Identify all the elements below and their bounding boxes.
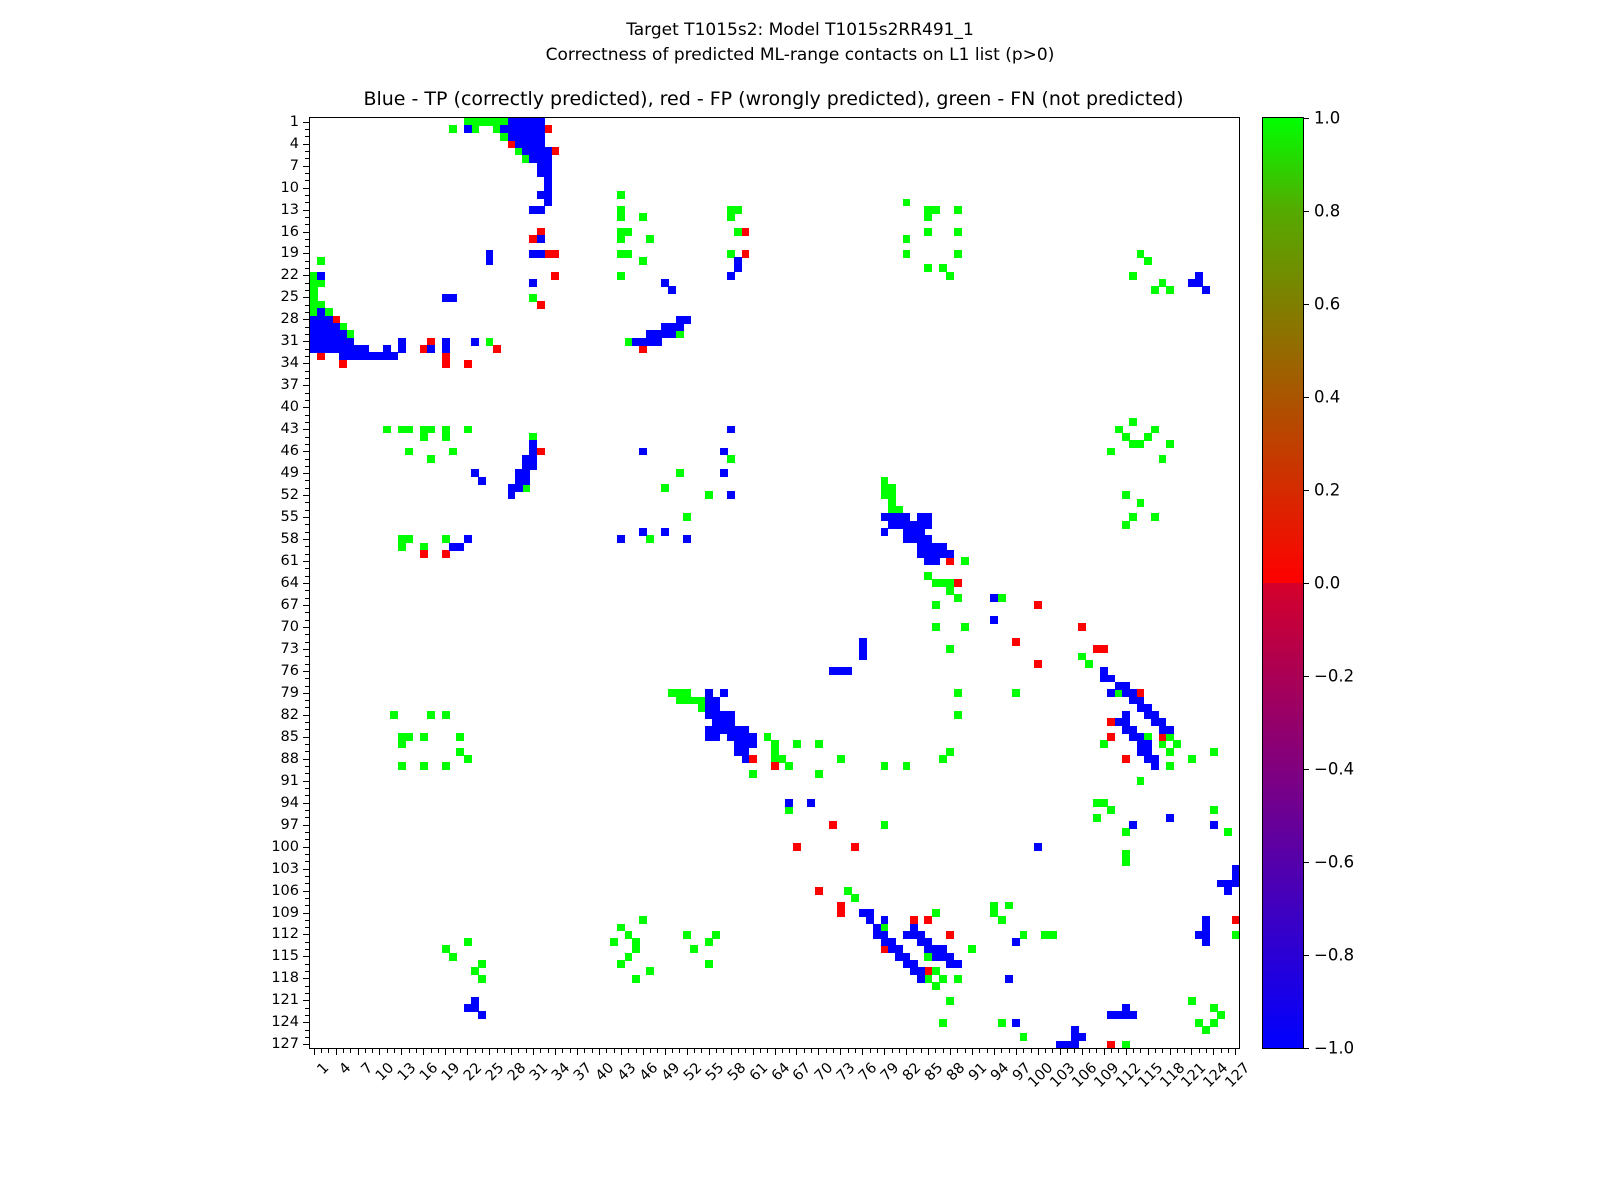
x-tick-mark [767, 1048, 768, 1053]
x-tick-mark [1067, 1048, 1068, 1053]
y-tick-mark [305, 393, 310, 394]
y-tick-mark [303, 297, 310, 298]
y-tick-mark [305, 502, 310, 503]
contact-cell-fn [449, 953, 457, 961]
y-tick-mark [305, 678, 310, 679]
contact-cell-tp [668, 286, 676, 294]
colorbar-tick-label: −0.4 [1314, 760, 1354, 779]
contact-cell-tp [537, 191, 545, 199]
contact-cell-fp [1159, 733, 1167, 741]
y-tick-mark [305, 327, 310, 328]
contact-cell-fn [1005, 902, 1013, 910]
contact-cell-fn [1144, 433, 1152, 441]
y-tick-mark [303, 253, 310, 254]
contact-cell-tp [544, 184, 552, 192]
contact-cell-tp [529, 279, 537, 287]
contact-cell-fp [1107, 733, 1115, 741]
y-tick-mark [305, 1008, 310, 1009]
contact-cell-fp [551, 147, 559, 155]
contact-cell-tp [464, 535, 472, 543]
x-tick-mark [1140, 1048, 1141, 1053]
y-tick-mark [305, 415, 310, 416]
y-tick-label: 13 [281, 202, 299, 218]
contact-cell-tp [1202, 938, 1210, 946]
x-tick-mark [913, 1048, 914, 1053]
contact-cell-tp [529, 462, 537, 470]
colorbar-tick-mark [1303, 862, 1309, 863]
x-tick-mark [533, 1048, 534, 1055]
contact-cell-tp [1129, 1011, 1137, 1019]
contact-cell-fn [1151, 286, 1159, 294]
y-tick-mark [305, 920, 310, 921]
y-tick-mark [305, 312, 310, 313]
colorbar-tick-mark [1303, 583, 1309, 584]
x-tick-mark [1177, 1048, 1178, 1053]
contact-cell-fn [690, 945, 698, 953]
contact-cell-tp [727, 426, 735, 434]
contact-cell-tp [829, 667, 837, 675]
contact-cell-fp [1232, 916, 1239, 924]
contact-cell-fn [420, 733, 428, 741]
x-tick-mark [855, 1048, 856, 1053]
y-tick-mark [303, 1022, 310, 1023]
contact-cell-fn [1166, 440, 1174, 448]
y-tick-mark [303, 517, 310, 518]
contact-cell-fn [1020, 1033, 1028, 1041]
contact-cell-fp [339, 360, 347, 368]
contact-cell-fn [449, 125, 457, 133]
y-tick-mark [305, 459, 310, 460]
contact-cell-fp [829, 821, 837, 829]
contact-cell-tp [946, 550, 954, 558]
contact-cell-fn [398, 762, 406, 770]
colorbar-tick-label: 0.4 [1314, 388, 1340, 407]
contact-cell-fn [954, 689, 962, 697]
contact-map-axes[interactable]: 1471013161922252831343740434649525558616… [309, 117, 1240, 1049]
contact-cell-fn [932, 982, 940, 990]
contact-cell-fp [537, 448, 545, 456]
y-tick-mark [305, 546, 310, 547]
contact-cell-tp [661, 528, 669, 536]
y-tick-label: 103 [271, 861, 299, 877]
y-tick-mark [305, 700, 310, 701]
contact-cell-fp [954, 579, 962, 587]
x-tick-mark [826, 1048, 827, 1053]
x-tick-mark [1038, 1048, 1039, 1055]
contact-cell-fn [1217, 1011, 1225, 1019]
contact-cell-fn [661, 484, 669, 492]
contact-cell-tp [639, 528, 647, 536]
contact-cell-fn [625, 953, 633, 961]
contact-cell-tp [881, 916, 889, 924]
x-tick-mark [789, 1048, 790, 1053]
y-tick-label: 19 [281, 245, 299, 261]
x-tick-mark [343, 1048, 344, 1053]
y-tick-mark [305, 795, 310, 796]
contact-cell-fn [785, 806, 793, 814]
x-tick-mark [1118, 1048, 1119, 1053]
x-tick-mark [877, 1048, 878, 1053]
x-tick-mark [1045, 1048, 1046, 1053]
contact-cell-fn [1122, 1041, 1130, 1048]
y-tick-mark [305, 744, 310, 745]
contact-cell-fp [420, 550, 428, 558]
y-tick-mark [305, 488, 310, 489]
x-tick-mark [906, 1048, 907, 1055]
x-tick-mark [1170, 1048, 1171, 1055]
colorbar-tick-label: −0.6 [1314, 853, 1354, 872]
contact-cell-fn [924, 213, 932, 221]
x-tick-label: 52 [681, 1060, 705, 1084]
contact-cell-fn [903, 235, 911, 243]
contact-cell-fn [449, 448, 457, 456]
y-tick-mark [305, 707, 310, 708]
x-tick-label: 7 [358, 1060, 376, 1078]
contact-cell-fn [1173, 740, 1181, 748]
y-tick-label: 25 [281, 289, 299, 305]
contact-cell-tp [1107, 689, 1115, 697]
colorbar-tick-label: 0.2 [1314, 481, 1340, 500]
x-tick-mark [438, 1048, 439, 1053]
contact-cell-tp [859, 653, 867, 661]
y-tick-label: 88 [281, 751, 299, 767]
y-tick-mark [305, 158, 310, 159]
y-tick-mark [305, 576, 310, 577]
y-tick-label: 91 [281, 773, 299, 789]
x-tick-mark [467, 1048, 468, 1055]
colorbar[interactable]: −1.0−0.8−0.6−0.4−0.20.00.20.40.60.81.0 [1262, 117, 1304, 1049]
y-tick-mark [305, 598, 310, 599]
contact-cell-fn [1151, 513, 1159, 521]
y-tick-mark [305, 861, 310, 862]
contact-cell-fn [683, 931, 691, 939]
x-tick-mark [738, 1048, 739, 1053]
contact-cell-fn [1166, 748, 1174, 756]
y-tick-mark [305, 151, 310, 152]
x-tick-label: 46 [637, 1060, 661, 1084]
contact-cell-fn [617, 960, 625, 968]
y-tick-mark [303, 561, 310, 562]
y-tick-mark [303, 1044, 310, 1045]
contact-cell-fn [646, 235, 654, 243]
y-tick-label: 43 [281, 421, 299, 437]
contact-cell-fn [522, 484, 530, 492]
contact-cell-fn [317, 279, 325, 287]
x-tick-mark [584, 1048, 585, 1053]
contact-cell-fp [1107, 1041, 1115, 1048]
contact-cell-fn [676, 330, 684, 338]
contact-cell-tp [668, 330, 676, 338]
y-tick-mark [303, 649, 310, 650]
contact-cell-fn [1093, 814, 1101, 822]
x-tick-mark [321, 1048, 322, 1053]
x-tick-mark [672, 1048, 673, 1053]
contact-cell-fn [383, 426, 391, 434]
y-tick-mark [303, 232, 310, 233]
y-tick-mark [303, 429, 310, 430]
x-tick-label: 58 [725, 1060, 749, 1084]
contact-cell-tp [486, 257, 494, 265]
y-tick-mark [303, 451, 310, 452]
y-tick-mark [305, 590, 310, 591]
contact-cell-tp [807, 799, 815, 807]
contact-cell-fn [1144, 257, 1152, 265]
x-tick-mark [460, 1048, 461, 1053]
x-tick-mark [694, 1048, 695, 1053]
y-tick-mark [305, 664, 310, 665]
x-tick-mark [489, 1048, 490, 1055]
contact-cell-fp [551, 272, 559, 280]
x-tick-mark [482, 1048, 483, 1053]
x-tick-mark [365, 1048, 366, 1053]
y-tick-mark [303, 363, 310, 364]
contact-cell-tp [390, 352, 398, 360]
contact-cell-tp [990, 594, 998, 602]
y-tick-label: 37 [281, 377, 299, 393]
contact-cell-tp [727, 491, 735, 499]
y-tick-mark [303, 605, 310, 606]
contact-cell-tp [859, 638, 867, 646]
contact-cell-fn [939, 1019, 947, 1027]
contact-cell-tp [1151, 762, 1159, 770]
contact-cell-fn [815, 740, 823, 748]
contact-cell-tp [720, 689, 728, 697]
contact-cell-fn [625, 250, 633, 258]
contact-cell-tp [734, 264, 742, 272]
y-tick-mark [305, 524, 310, 525]
contact-cell-fn [1202, 1026, 1210, 1034]
y-tick-mark [305, 356, 310, 357]
y-tick-label: 106 [271, 883, 299, 899]
y-tick-mark [303, 210, 310, 211]
x-tick-mark [701, 1048, 702, 1053]
x-tick-mark [723, 1048, 724, 1053]
contact-cell-fn [1122, 850, 1130, 858]
contact-cell-tp [1202, 286, 1210, 294]
contact-cell-fn [932, 601, 940, 609]
contact-cell-tp [785, 799, 793, 807]
y-tick-mark [303, 825, 310, 826]
contact-cell-fn [946, 272, 954, 280]
x-tick-mark [518, 1048, 519, 1053]
x-tick-mark [453, 1048, 454, 1053]
contact-cell-tp [522, 477, 530, 485]
y-tick-mark [305, 620, 310, 621]
x-tick-mark [1031, 1048, 1032, 1053]
x-tick-mark [921, 1048, 922, 1053]
y-tick-label: 46 [281, 443, 299, 459]
y-tick-mark [305, 202, 310, 203]
contact-cell-fn [961, 557, 969, 565]
y-tick-mark [305, 839, 310, 840]
x-tick-label: 91 [966, 1060, 990, 1084]
contact-cell-tp [749, 740, 757, 748]
contact-cell-fn [903, 762, 911, 770]
x-tick-label: 4 [336, 1060, 354, 1078]
contact-cell-fn [420, 433, 428, 441]
contact-cell-fn [683, 513, 691, 521]
colorbar-tick-mark [1303, 211, 1309, 212]
x-tick-mark [965, 1048, 966, 1053]
contact-cell-fn [1188, 997, 1196, 1005]
y-tick-label: 22 [281, 267, 299, 283]
x-tick-mark [957, 1048, 958, 1053]
x-tick-mark [350, 1048, 351, 1053]
x-tick-label: 40 [593, 1060, 617, 1084]
x-tick-mark [804, 1048, 805, 1053]
contact-cell-fn [646, 535, 654, 543]
y-tick-label: 16 [281, 224, 299, 240]
y-tick-mark [305, 766, 310, 767]
contact-cell-fn [405, 733, 413, 741]
x-tick-label: 37 [571, 1060, 595, 1084]
contact-cell-fn [1122, 491, 1130, 499]
contact-cell-fn [1166, 762, 1174, 770]
contact-cell-fn [954, 711, 962, 719]
x-tick-mark [1206, 1048, 1207, 1053]
x-tick-label: 1 [314, 1060, 332, 1078]
y-tick-label: 64 [281, 575, 299, 591]
y-tick-label: 55 [281, 509, 299, 525]
x-tick-mark [753, 1048, 754, 1055]
contact-cell-tp [1071, 1041, 1079, 1048]
y-tick-mark [303, 956, 310, 957]
y-tick-mark [305, 246, 310, 247]
contact-cell-fn [1137, 440, 1145, 448]
y-tick-mark [305, 466, 310, 467]
y-tick-mark [305, 964, 310, 965]
contact-cell-tp [442, 338, 450, 346]
contact-cell-fn [734, 206, 742, 214]
contact-cell-tp [1034, 843, 1042, 851]
y-tick-mark [305, 217, 310, 218]
contact-cell-fn [932, 623, 940, 631]
contact-cell-tp [720, 448, 728, 456]
contact-cell-fn [1151, 426, 1159, 434]
contact-cell-tp [683, 316, 691, 324]
y-tick-mark [303, 803, 310, 804]
contact-cell-fn [954, 206, 962, 214]
contact-map-cells [310, 118, 1239, 1048]
contact-cell-fn [617, 213, 625, 221]
contact-cell-fp [639, 345, 647, 353]
y-tick-mark [303, 144, 310, 145]
x-tick-mark [416, 1048, 417, 1053]
x-tick-mark [987, 1048, 988, 1053]
y-tick-mark [305, 349, 310, 350]
y-tick-mark [305, 949, 310, 950]
contact-cell-tp [683, 535, 691, 543]
x-tick-mark [892, 1048, 893, 1053]
contact-cell-fn [705, 491, 713, 499]
y-tick-mark [305, 378, 310, 379]
y-tick-mark [303, 671, 310, 672]
contact-cell-fp [851, 843, 859, 851]
x-tick-mark [1074, 1048, 1075, 1053]
x-tick-mark [497, 1048, 498, 1053]
contact-cell-fn [998, 916, 1006, 924]
x-tick-mark [1023, 1048, 1024, 1053]
y-tick-mark [303, 715, 310, 716]
contact-cell-fp [544, 250, 552, 258]
contact-cell-tp [639, 448, 647, 456]
y-tick-mark [305, 905, 310, 906]
y-tick-mark [305, 1030, 310, 1031]
contact-cell-fn [456, 733, 464, 741]
contact-cell-fn [1166, 286, 1174, 294]
contact-cell-tp [464, 125, 472, 133]
y-tick-mark [305, 261, 310, 262]
y-tick-mark [305, 634, 310, 635]
y-tick-mark [305, 400, 310, 401]
contact-cell-fn [1041, 931, 1049, 939]
contact-cell-tp [1078, 1033, 1086, 1041]
contact-cell-fp [1078, 623, 1086, 631]
contact-cell-fn [932, 206, 940, 214]
contact-cell-fn [888, 491, 896, 499]
y-tick-mark [303, 275, 310, 276]
contact-cell-fn [1122, 828, 1130, 836]
x-tick-mark [972, 1048, 973, 1055]
contact-cell-fn [924, 264, 932, 272]
contact-cell-fn [837, 755, 845, 763]
x-tick-mark [1096, 1048, 1097, 1053]
x-tick-mark [665, 1048, 666, 1055]
y-tick-label: 40 [281, 399, 299, 415]
contact-cell-fn [1085, 660, 1093, 668]
contact-cell-fp [924, 916, 932, 924]
contact-cell-fn [727, 213, 735, 221]
contact-cell-fn [815, 770, 823, 778]
contact-cell-tp [1232, 880, 1239, 888]
contact-cell-fp [442, 352, 450, 360]
y-tick-mark [305, 927, 310, 928]
x-tick-mark [935, 1048, 936, 1053]
x-tick-mark [562, 1048, 563, 1053]
contact-cell-fn [478, 960, 486, 968]
contact-cell-fp [793, 843, 801, 851]
y-tick-mark [305, 173, 310, 174]
contact-cell-tp [537, 235, 545, 243]
contact-cell-fp [1122, 755, 1130, 763]
contact-cell-fn [683, 697, 691, 705]
x-tick-mark [760, 1048, 761, 1053]
colorbar-tick-label: 0.0 [1314, 574, 1340, 593]
contact-cell-tp [881, 528, 889, 536]
y-tick-mark [305, 986, 310, 987]
contact-cell-fn [1100, 740, 1108, 748]
x-tick-mark [606, 1048, 607, 1053]
x-tick-label: 34 [549, 1060, 573, 1084]
contact-cell-fn [632, 945, 640, 953]
contact-cell-fn [785, 762, 793, 770]
y-tick-mark [303, 737, 310, 738]
contact-cell-tp [712, 733, 720, 741]
x-tick-mark [445, 1048, 446, 1055]
contact-cell-fn [676, 469, 684, 477]
contact-cell-fn [398, 543, 406, 551]
contact-cell-fp [537, 301, 545, 309]
contact-cell-fn [998, 1019, 1006, 1027]
y-tick-mark [303, 759, 310, 760]
x-tick-mark [387, 1048, 388, 1053]
x-tick-mark [423, 1048, 424, 1055]
contact-cell-tp [442, 345, 450, 353]
contact-cell-fn [1210, 806, 1218, 814]
y-tick-label: 49 [281, 465, 299, 481]
contact-cell-fn [881, 821, 889, 829]
contact-cell-fn [705, 938, 713, 946]
